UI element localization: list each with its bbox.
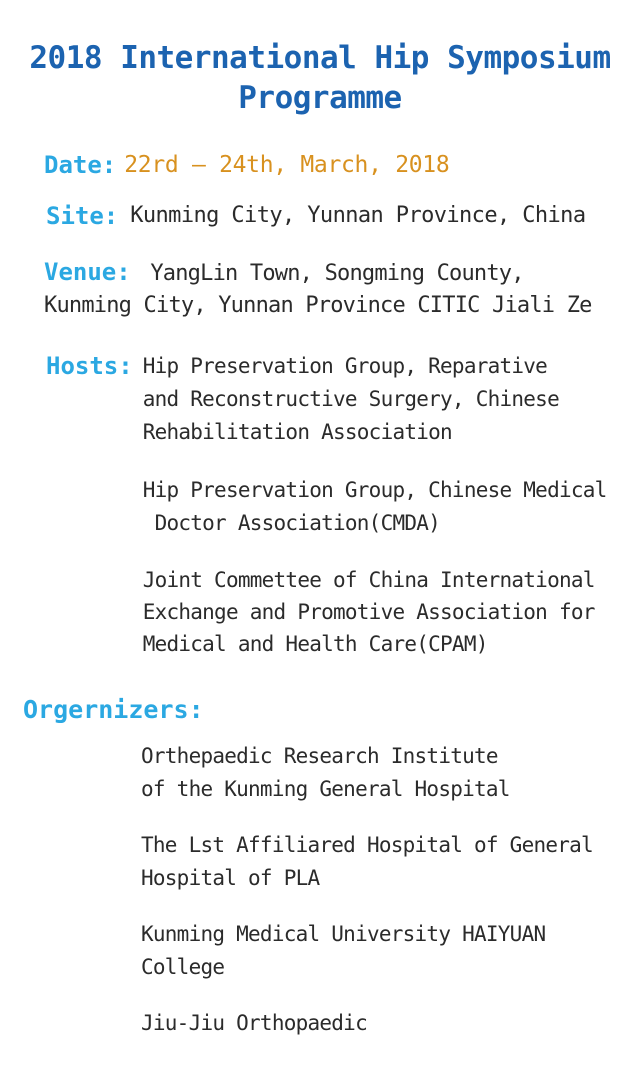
host-entry: Hip Preservation Group, Chinese Medical … (143, 474, 625, 540)
organizer-entry: Orthepaedic Research Institute of the Ku… (141, 740, 631, 806)
field-venue: Venue: YangLin Town, Songming County, Ku… (44, 256, 624, 322)
organizers-label: Orgernizers: (23, 694, 204, 726)
host-entry-line: Doctor Association(CMDA) (143, 507, 625, 540)
organizer-entry-line: Orthepaedic Research Institute (141, 740, 631, 773)
title-line-1: 2018 International Hip Symposium (29, 40, 610, 76)
page-title: 2018 International Hip Symposium Program… (0, 38, 640, 118)
organizer-entry-line: of the Kunming General Hospital (141, 773, 631, 806)
host-entry: Joint Commettee of China International E… (143, 564, 625, 660)
field-hosts: Hosts: Hip Preservation Group, Reparativ… (46, 350, 625, 660)
field-site: Site: Kunming City, Yunnan Province, Chi… (46, 201, 585, 231)
organizer-entry-line: College (141, 951, 631, 984)
organizer-entry: The Lst Affiliared Hospital of General H… (141, 829, 631, 895)
date-value: 22rd — 24th, March, 2018 (124, 150, 449, 180)
programme-page: 2018 International Hip Symposium Program… (0, 0, 640, 1073)
host-entry-line: Hip Preservation Group, Reparative (143, 350, 625, 383)
organizer-entry-line: Jiu-Jiu Orthopaedic (141, 1007, 631, 1040)
host-entry-line: Exchange and Promotive Association for (143, 596, 625, 628)
field-date: Date: 22rd — 24th, March, 2018 (44, 150, 449, 180)
host-entry-line: Rehabilitation Association (143, 416, 625, 449)
hosts-list: Hip Preservation Group, Reparative and R… (143, 350, 625, 660)
organizers-list: Orthepaedic Research Institute of the Ku… (141, 740, 631, 1040)
date-label: Date: (44, 150, 116, 180)
venue-label: Venue: (44, 258, 131, 286)
organizer-entry-line: The Lst Affiliared Hospital of General (141, 829, 631, 862)
hosts-label: Hosts: (46, 350, 133, 383)
host-entry-line: Hip Preservation Group, Chinese Medical (143, 474, 625, 507)
title-line-2: Programme (0, 78, 640, 118)
venue-value-line-1: YangLin Town, Songming County, (150, 261, 523, 286)
host-entry-line: Joint Commettee of China International (143, 564, 625, 596)
organizer-entry: Kunming Medical University HAIYUAN Colle… (141, 918, 631, 984)
organizer-entry-line: Hospital of PLA (141, 862, 631, 895)
site-value: Kunming City, Yunnan Province, China (130, 201, 585, 231)
host-entry-line: and Reconstructive Surgery, Chinese (143, 383, 625, 416)
organizer-entry: Jiu-Jiu Orthopaedic (141, 1007, 631, 1040)
venue-value-line-2: Kunming City, Yunnan Province CITIC Jial… (44, 290, 624, 322)
site-label: Site: (46, 201, 118, 231)
host-entry-line: Medical and Health Care(CPAM) (143, 628, 625, 660)
host-entry: Hip Preservation Group, Reparative and R… (143, 350, 625, 449)
organizer-entry-line: Kunming Medical University HAIYUAN (141, 918, 631, 951)
